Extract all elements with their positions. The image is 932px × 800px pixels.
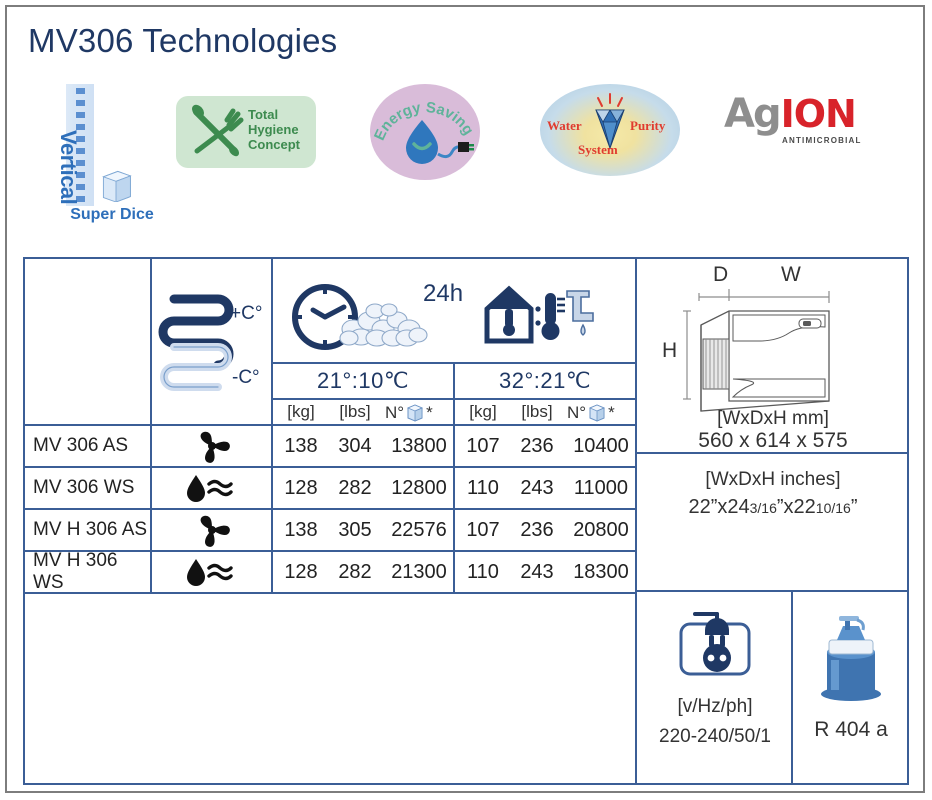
dimension-inches-caption: [WxDxH inches] — [637, 468, 909, 493]
ice-cube-icon — [587, 402, 607, 423]
inches-x1: x — [717, 496, 727, 518]
clock-ice-24h-icon: 24h — [287, 279, 467, 351]
header-condition-1: 21°:10℃ — [273, 362, 455, 398]
header-production-icons: 24h — [273, 257, 637, 362]
ambient-water-temp-icon — [479, 279, 599, 349]
table-row-condition-2: 10723610400 — [455, 424, 637, 466]
cell-c1-kg: 128 — [275, 468, 327, 508]
air-cooled-fan-icon — [189, 510, 235, 550]
power-plug-icon — [669, 606, 761, 684]
table-row-cooling-icon — [152, 508, 273, 550]
cell-c1-lbs: 282 — [327, 468, 383, 508]
specifications-table: +C° -C° 24h — [23, 257, 909, 785]
cell-c2-lbs: 236 — [509, 510, 565, 550]
unit-cubes-2-asterisk: * — [608, 403, 615, 423]
water-cooled-icon — [182, 471, 242, 505]
header-cooling-type: +C° -C° — [152, 257, 273, 424]
table-empty-footer-cell — [23, 592, 637, 785]
header-units-group-2: [kg] [lbs] N° * — [455, 398, 637, 424]
cell-c1-kg: 138 — [275, 510, 327, 550]
agion-ion-text: ION — [781, 96, 856, 133]
header-units-group-1: [kg] [lbs] N° * — [273, 398, 455, 424]
cell-c1-cubes: 22576 — [385, 510, 453, 550]
cell-c1-lbs: 305 — [327, 510, 383, 550]
electrical-value: 220-240/50/1 — [637, 726, 793, 748]
unit-kg-2: [kg] — [457, 400, 509, 424]
table-row-condition-1: 13830522576 — [273, 508, 455, 550]
cell-c1-cubes: 13800 — [385, 426, 453, 466]
dimension-inches-value: 22”x243/16”x2210/16” — [637, 496, 909, 519]
dimension-inches-cell: [WxDxH inches] 22”x243/16”x2210/16” — [637, 454, 909, 592]
label-24h: 24h — [423, 280, 463, 307]
unit-cubes-1: N° * — [385, 402, 433, 423]
table-row-cooling-icon — [152, 466, 273, 508]
cell-c1-lbs: 282 — [327, 552, 383, 592]
table-row-cooling-icon — [152, 424, 273, 466]
inches-d-whole: 24 — [727, 496, 749, 518]
super-dice-label: Super Dice — [50, 206, 174, 224]
unit-lbs-1: [lbs] — [327, 400, 383, 424]
cell-c1-kg: 128 — [275, 552, 327, 592]
refrigerant-spec-cell: R 404 a — [793, 592, 909, 785]
unit-cubes-1-asterisk: * — [426, 403, 433, 423]
cell-c1-kg: 138 — [275, 426, 327, 466]
inches-w: 22” — [688, 496, 717, 518]
table-row-condition-2: 10723620800 — [455, 508, 637, 550]
badge-water-purity-system: Water Purity System — [540, 84, 680, 176]
header-blank-model — [23, 257, 152, 424]
unit-cubes-1-label: N° — [385, 403, 404, 423]
badge-total-hygiene-concept: Total Hygiene Concept — [176, 96, 316, 168]
electrical-spec-cell: [v/Hz/ph] 220-240/50/1 — [637, 592, 793, 785]
dimension-diagram-cell: D W H — [637, 257, 909, 454]
cell-c2-lbs: 236 — [509, 426, 565, 466]
agion-ag-text: Ag — [724, 96, 780, 133]
cell-c2-kg: 107 — [457, 510, 509, 550]
hygiene-line-2: Hygiene — [248, 123, 300, 138]
ice-cube-icon — [405, 402, 425, 423]
badge-super-dice: Vertical Super Dice — [50, 82, 170, 227]
inches-x2: x — [784, 496, 794, 518]
dimension-letter-h: H — [662, 339, 677, 363]
technology-badge-row: Vertical Super Dice — [24, 78, 904, 228]
header-condition-2: 32°:21℃ — [455, 362, 637, 398]
cell-c2-cubes: 10400 — [567, 426, 635, 466]
cell-c2-kg: 110 — [457, 552, 509, 592]
badge-energy-saving: Energy Saving — [370, 84, 480, 180]
table-row-cooling-icon — [152, 550, 273, 592]
table-row-condition-1: 12828212800 — [273, 466, 455, 508]
ice-cube-icon — [98, 166, 134, 202]
label-plus-celsius: +C° — [230, 303, 262, 325]
table-row-model-label: MV H 306 WS — [23, 550, 152, 592]
refrigerant-cylinder-icon — [813, 610, 889, 704]
dimension-mm-value: 560 x 614 x 575 — [637, 429, 909, 453]
page-title: MV306 Technologies — [28, 22, 337, 60]
cell-c2-cubes: 11000 — [567, 468, 635, 508]
super-dice-vertical-label: Vertical — [55, 130, 81, 204]
cell-c2-lbs: 243 — [509, 552, 565, 592]
unit-lbs-2: [lbs] — [509, 400, 565, 424]
water-purity-word-water: Water — [547, 118, 582, 134]
water-purity-word-purity: Purity — [630, 118, 665, 134]
electrical-caption: [v/Hz/ph] — [637, 696, 793, 718]
table-row-model-label: MV 306 AS — [23, 424, 152, 466]
label-minus-celsius: -C° — [232, 367, 260, 389]
total-hygiene-text: Total Hygiene Concept — [248, 108, 300, 152]
unit-cubes-2-label: N° — [567, 403, 586, 423]
inches-h-whole: 22 — [794, 496, 816, 518]
cell-c1-cubes: 21300 — [385, 552, 453, 592]
inches-h-frac: 10/16 — [816, 500, 851, 516]
cell-c2-lbs: 243 — [509, 468, 565, 508]
energy-saving-graphic: Energy Saving — [370, 84, 480, 180]
cell-c2-cubes: 18300 — [567, 552, 635, 592]
air-cooled-fan-icon — [189, 426, 235, 466]
inches-d-unit: ” — [777, 496, 784, 518]
water-cooled-icon — [182, 555, 242, 589]
hygiene-line-3: Concept — [248, 138, 300, 153]
cell-c1-lbs: 304 — [327, 426, 383, 466]
water-purity-word-system: System — [578, 142, 618, 158]
cell-c1-cubes: 12800 — [385, 468, 453, 508]
refrigerant-label: R 404 a — [793, 718, 909, 742]
table-row-condition-1: 13830413800 — [273, 424, 455, 466]
hygiene-line-1: Total — [248, 108, 300, 123]
table-row-condition-2: 11024318300 — [455, 550, 637, 592]
agion-subtitle: ANTIMICROBIAL — [782, 136, 862, 145]
inches-h-unit: ” — [851, 496, 858, 518]
fork-knife-icon — [181, 98, 249, 166]
table-row-condition-1: 12828221300 — [273, 550, 455, 592]
cell-c2-kg: 107 — [457, 426, 509, 466]
dimension-mm-caption: [WxDxH mm] — [637, 407, 909, 432]
cell-c2-kg: 110 — [457, 468, 509, 508]
unit-kg-1: [kg] — [275, 400, 327, 424]
table-row-model-label: MV H 306 AS — [23, 508, 152, 550]
cell-c2-cubes: 20800 — [567, 510, 635, 550]
table-row-condition-2: 11024311000 — [455, 466, 637, 508]
badge-agion: Ag ION ANTIMICROBIAL — [724, 96, 856, 133]
inches-d-frac: 3/16 — [750, 500, 777, 516]
unit-cubes-2: N° * — [567, 402, 615, 423]
table-row-model-label: MV 306 WS — [23, 466, 152, 508]
